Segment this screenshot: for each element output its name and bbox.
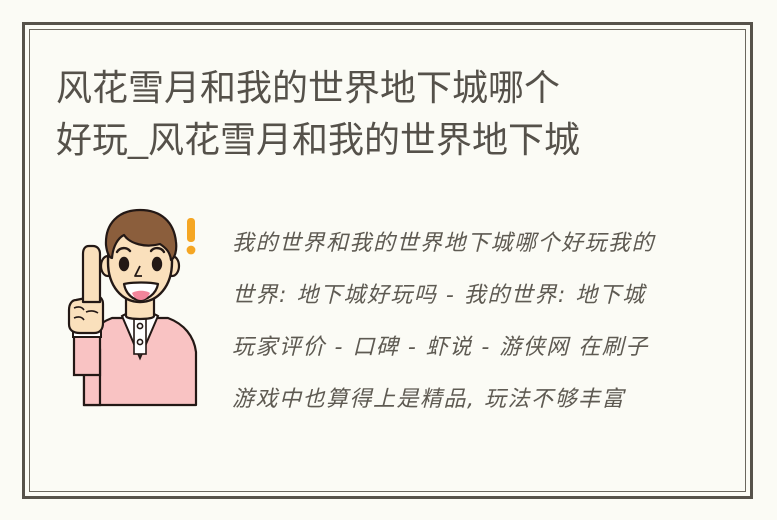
exclamation-bar [187, 218, 195, 242]
exclamation-dot [187, 246, 196, 255]
article-body-text: 我的世界和我的世界地下城哪个好玩我的世界: 地下城好玩吗 - 我的世界: 地下城… [232, 218, 656, 468]
page-title-line-2: 好玩_风花雪月和我的世界地下城 [56, 119, 580, 160]
article-card: 风花雪月和我的世界地下城哪个 好玩_风花雪月和我的世界地下城 [0, 0, 777, 520]
page-title-line-1: 风花雪月和我的世界地下城哪个 [56, 67, 560, 108]
pointing-man-illustration [60, 200, 220, 410]
page-title: 风花雪月和我的世界地下城哪个 好玩_风花雪月和我的世界地下城 [56, 62, 756, 166]
